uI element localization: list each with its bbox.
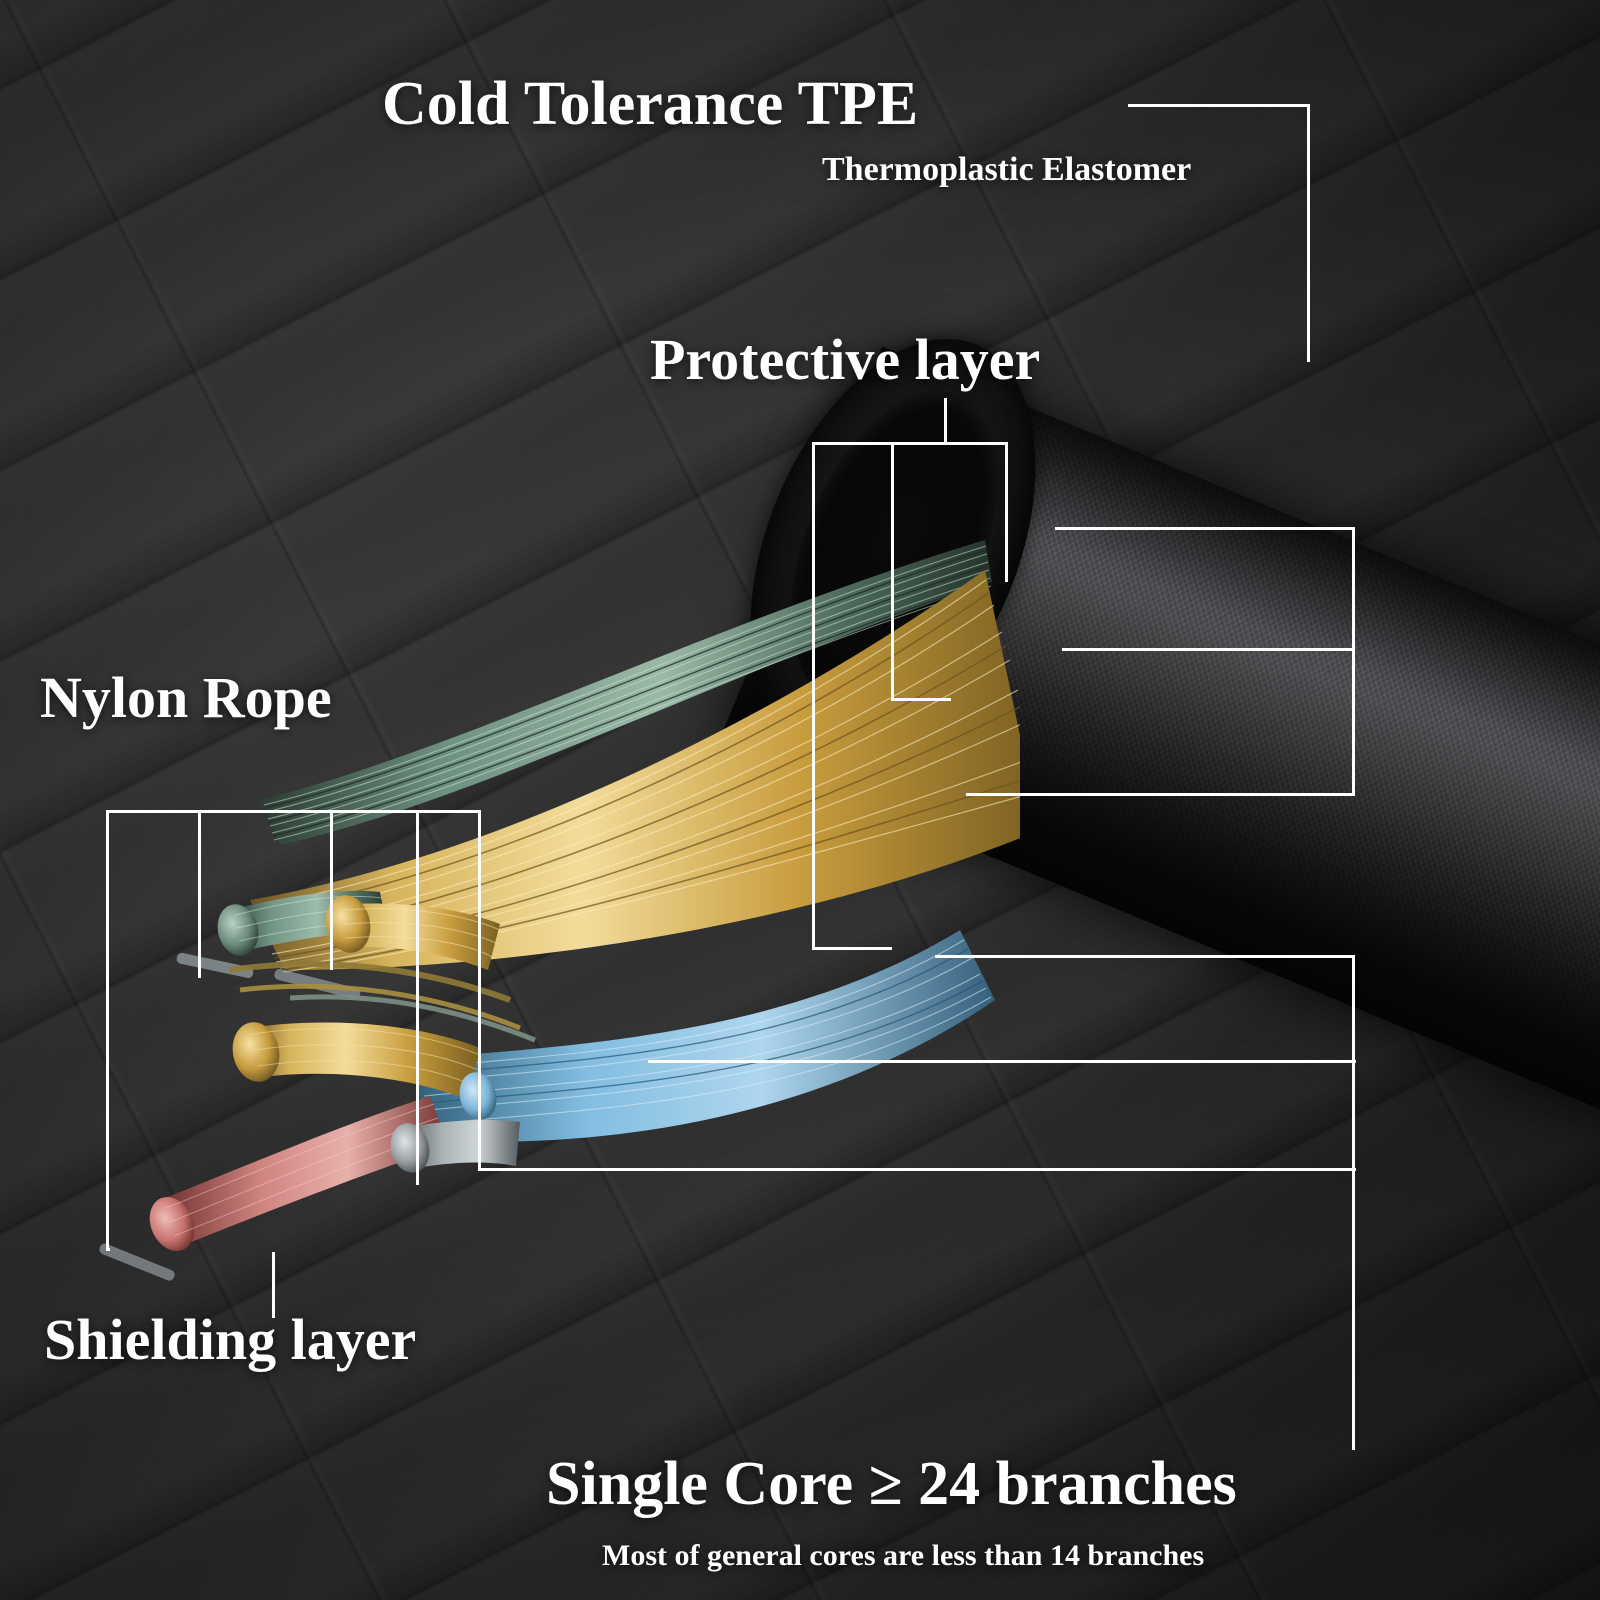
leader-right-second bbox=[1062, 648, 1354, 651]
leader-right-top-v bbox=[1352, 527, 1355, 651]
label-shielding-layer: Shielding layer bbox=[44, 1310, 416, 1371]
leader-nylon-v2 bbox=[198, 810, 201, 978]
leader-shielding-bottom bbox=[106, 1248, 110, 1251]
product-diagram: Cold Tolerance TPE Thermoplastic Elastom… bbox=[0, 0, 1600, 1600]
leader-right-third bbox=[966, 793, 1354, 796]
leader-protective-mid bbox=[891, 442, 894, 700]
leader-right-third-v bbox=[1352, 648, 1355, 796]
leader-right-sixth-v bbox=[1352, 1060, 1355, 1170]
leader-nylon-v5 bbox=[478, 810, 481, 1168]
leader-protective-tick-bottom bbox=[812, 947, 892, 950]
leader-right-fourth bbox=[935, 955, 1355, 958]
leader-right-fifth bbox=[648, 1060, 1356, 1063]
leader-nylon-v4 bbox=[416, 810, 419, 1185]
leader-protective-right bbox=[1005, 442, 1008, 582]
leader-nylon-v1 bbox=[106, 810, 109, 1250]
label-single-core: Single Core ≥ 24 branches bbox=[546, 1452, 1237, 1517]
leader-core-vertical bbox=[1352, 1168, 1355, 1450]
label-protective-layer: Protective layer bbox=[650, 330, 1040, 391]
label-cold-tolerance-tpe: Cold Tolerance TPE bbox=[382, 72, 918, 137]
leader-right-fourth-v bbox=[1352, 955, 1355, 1063]
leader-protective-stem bbox=[944, 398, 947, 444]
label-thermoplastic-elastomer: Thermoplastic Elastomer bbox=[822, 152, 1191, 188]
label-single-core-subtitle: Most of general cores are less than 14 b… bbox=[602, 1540, 1204, 1572]
label-nylon-rope: Nylon Rope bbox=[40, 668, 332, 729]
leader-nylon-bracket bbox=[106, 810, 481, 813]
leader-right-sixth bbox=[478, 1168, 1356, 1171]
leader-tpe-vertical bbox=[1307, 104, 1310, 362]
leader-tpe-horizontal bbox=[1128, 104, 1310, 107]
leader-protective-tick-mid bbox=[891, 698, 951, 701]
leader-right-top bbox=[1055, 527, 1355, 530]
leader-protective-bracket bbox=[812, 442, 1008, 445]
leader-nylon-v3 bbox=[330, 810, 333, 970]
leader-protective-left bbox=[812, 442, 815, 950]
